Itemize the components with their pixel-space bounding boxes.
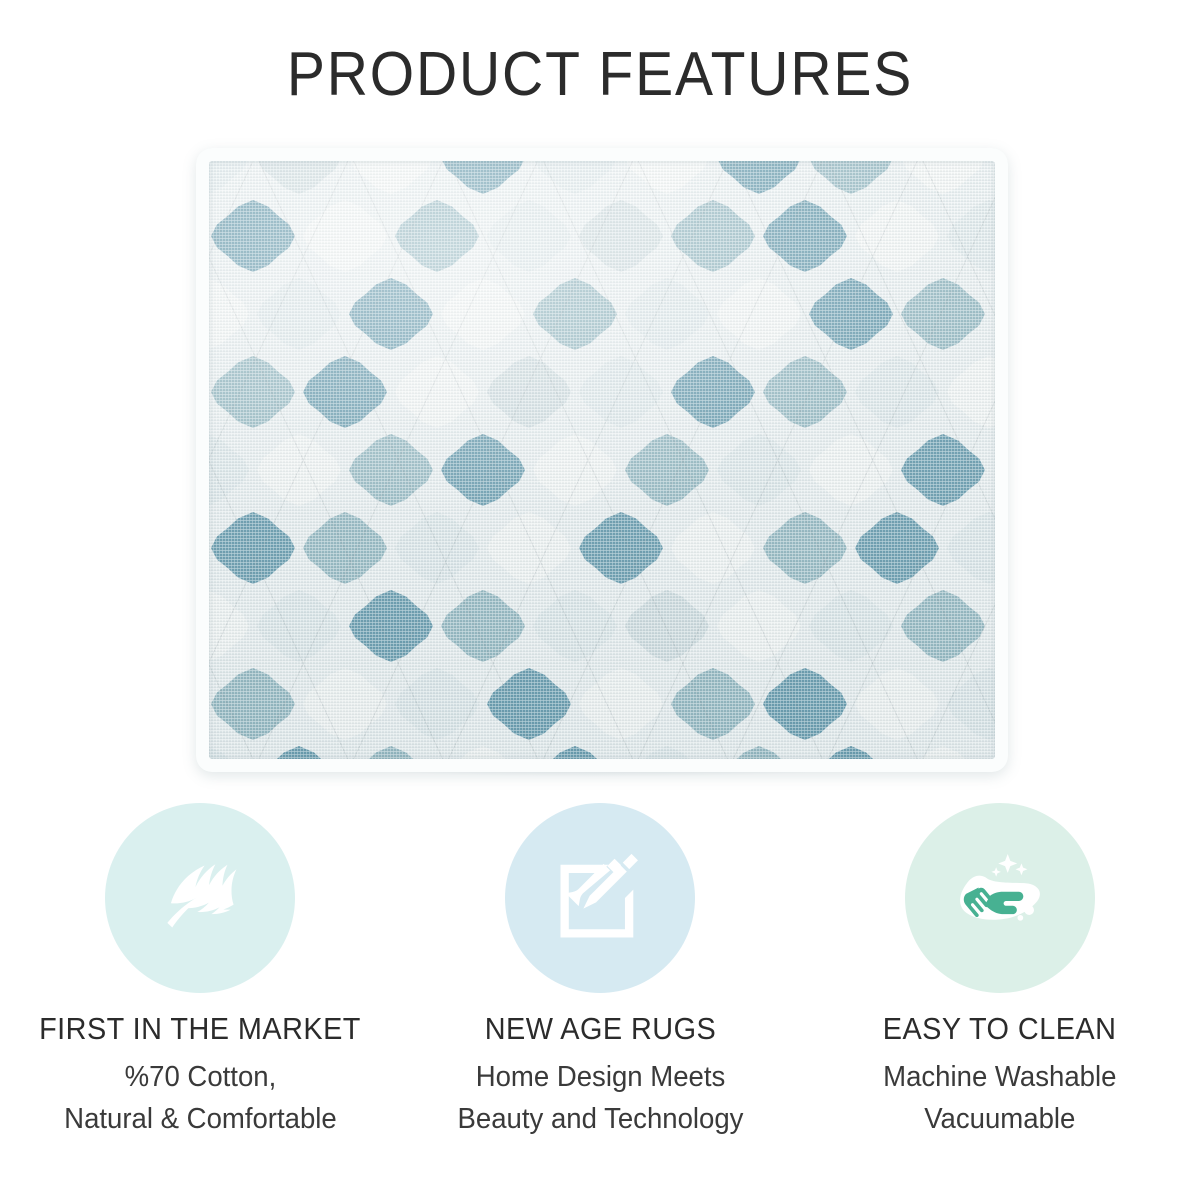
feature-description-1: %70 Cotton, Natural & Comfortable <box>64 1057 337 1139</box>
rug-tile <box>943 509 997 587</box>
rug-tile-shape <box>395 356 479 428</box>
rug-tile <box>207 353 299 431</box>
rug-tile <box>437 275 529 353</box>
rug-tile <box>253 159 345 197</box>
rug-tile-shape <box>671 668 755 740</box>
rug-tile <box>483 509 575 587</box>
rug-tile-shape <box>717 278 801 350</box>
rug-tile-shape <box>303 200 387 272</box>
rug-tile <box>437 159 529 197</box>
feature-list: FIRST IN THE MARKET %70 Cotton, Natural … <box>0 812 1200 1140</box>
rug-tile <box>575 197 667 275</box>
rug-tile <box>437 431 529 509</box>
rug-tile <box>299 353 391 431</box>
rug-tile <box>943 353 997 431</box>
rug-tile-shape <box>717 746 801 761</box>
rug-tile <box>391 197 483 275</box>
brush-and-pencil-icon <box>548 846 652 950</box>
rug-tile-shape <box>207 159 249 194</box>
rug-tile <box>713 431 805 509</box>
rug-tile-shape <box>625 590 709 662</box>
rug-tile <box>253 275 345 353</box>
rug-tile <box>897 743 989 761</box>
rug-tile-shape <box>855 356 939 428</box>
feature-description-2-line-2: Beauty and Technology <box>457 1099 743 1140</box>
rug-tile-shape <box>303 356 387 428</box>
rug-tile <box>943 197 997 275</box>
rug-tile <box>483 197 575 275</box>
rug-tile <box>759 509 851 587</box>
rug-tile-shape <box>207 746 249 761</box>
rug-tile-shape <box>763 668 847 740</box>
rug-tile <box>529 743 621 761</box>
rug-tile-shape <box>257 278 341 350</box>
rug-tile <box>759 353 851 431</box>
rug-tile-shape <box>947 512 997 584</box>
rug-tile-shape <box>441 746 525 761</box>
rug-tile-shape <box>763 512 847 584</box>
rug-tile <box>851 197 943 275</box>
rug-tile <box>575 665 667 743</box>
rug-tile <box>345 275 437 353</box>
rug-tile <box>483 665 575 743</box>
rug-tile-shape <box>625 278 709 350</box>
rug-tile-shape <box>533 159 617 194</box>
feature-title-2: NEW AGE RUGS <box>484 1012 715 1045</box>
rug-tile-shape <box>809 746 893 761</box>
rug-tile-shape <box>947 668 997 740</box>
rug-tile <box>805 587 897 665</box>
rug-tile <box>253 743 345 761</box>
rug-tile-shape <box>349 746 433 761</box>
rug-tile-shape <box>207 278 249 350</box>
rug-tile <box>621 159 713 197</box>
rug-tile <box>897 275 989 353</box>
rug-tile-shape <box>257 159 341 194</box>
rug-tile-shape <box>533 434 617 506</box>
page-title: PRODUCT FEATURES <box>48 44 1152 106</box>
rug-tile <box>529 587 621 665</box>
rug-tile-shape <box>211 200 295 272</box>
rug-tile-shape <box>211 356 295 428</box>
rug-tile-shape <box>671 512 755 584</box>
rug-tile <box>713 275 805 353</box>
feature-description-2-line-1: Home Design Meets <box>457 1057 743 1098</box>
rug-tile-shape <box>207 590 249 662</box>
rug-tile-shape <box>207 434 249 506</box>
rug-tile <box>253 431 345 509</box>
rug-tile <box>897 431 989 509</box>
rug-tile-shape <box>855 668 939 740</box>
rug-tile <box>345 159 437 197</box>
rug-tile <box>253 587 345 665</box>
rug-tile-shape <box>211 668 295 740</box>
rug-tile-shape <box>395 200 479 272</box>
rug-tile <box>529 431 621 509</box>
rug-photo <box>196 148 1008 772</box>
rug-tile-shape <box>763 200 847 272</box>
rug-tile <box>345 431 437 509</box>
rug-tile-shape <box>487 668 571 740</box>
rug-tile <box>713 587 805 665</box>
rug-tile <box>851 665 943 743</box>
rug-tile-shape <box>349 590 433 662</box>
rug-tile <box>667 509 759 587</box>
rug-tile-shape <box>395 512 479 584</box>
rug-tile-shape <box>441 159 525 194</box>
rug-tile-shape <box>717 159 801 194</box>
rug-tile <box>299 665 391 743</box>
rug-tile <box>207 509 299 587</box>
rug-tile-shape <box>901 746 985 761</box>
rug-tile-shape <box>901 434 985 506</box>
rug-tile-shape <box>579 356 663 428</box>
rug-drop-shadow <box>210 764 994 782</box>
rug-tile <box>713 743 805 761</box>
rug-tile <box>391 665 483 743</box>
rug-tile-shape <box>349 434 433 506</box>
rug-tile <box>391 509 483 587</box>
rug-tile-shape <box>671 356 755 428</box>
feature-item-easy-to-clean: EASY TO CLEAN Machine Washable Vacuumabl… <box>800 812 1200 1140</box>
feature-title-1: FIRST IN THE MARKET <box>39 1012 361 1045</box>
rug-tile-grid <box>207 159 997 761</box>
rug-tile-shape <box>625 159 709 194</box>
rug-tile-shape <box>717 434 801 506</box>
rug-tile <box>575 353 667 431</box>
feature-title-3: EASY TO CLEAN <box>883 1012 1117 1045</box>
rug-tile <box>621 743 713 761</box>
rug-tile <box>851 353 943 431</box>
rug-tile-shape <box>211 512 295 584</box>
rug-tile <box>483 353 575 431</box>
rug-tile-shape <box>395 668 479 740</box>
rug-tile <box>207 431 253 509</box>
hand-wiping-clean-icon <box>945 843 1055 953</box>
feather-icon <box>148 846 252 950</box>
rug-tile <box>207 159 253 197</box>
rug-tile <box>391 353 483 431</box>
rug-tile-shape <box>303 512 387 584</box>
rug-tile <box>943 665 997 743</box>
feature-description-3: Machine Washable Vacuumable <box>883 1057 1116 1139</box>
rug-tile <box>299 509 391 587</box>
rug-tile-shape <box>763 356 847 428</box>
rug-tile <box>851 509 943 587</box>
rug-tile <box>897 587 989 665</box>
rug-tile-shape <box>901 590 985 662</box>
feature-badge-3 <box>914 812 1086 984</box>
rug-tile <box>529 159 621 197</box>
rug-tile-shape <box>533 278 617 350</box>
rug-tile-shape <box>809 434 893 506</box>
rug-tile <box>667 197 759 275</box>
rug-tile <box>207 275 253 353</box>
rug-tile-shape <box>487 356 571 428</box>
rug-tile-shape <box>625 434 709 506</box>
rug-tile-shape <box>947 356 997 428</box>
feature-description-3-line-1: Machine Washable <box>883 1057 1116 1098</box>
feature-item-new-age-rugs: NEW AGE RUGS Home Design Meets Beauty an… <box>400 812 800 1140</box>
rug-tile-shape <box>809 159 893 194</box>
rug-tile <box>759 665 851 743</box>
rug-tile <box>759 197 851 275</box>
feature-badge-2 <box>514 812 686 984</box>
rug-tile-shape <box>441 434 525 506</box>
rug-tile <box>667 353 759 431</box>
rug-tile <box>575 509 667 587</box>
rug-tile-shape <box>855 200 939 272</box>
rug-tile-shape <box>257 434 341 506</box>
rug-tile-shape <box>441 590 525 662</box>
rug-tile-shape <box>533 746 617 761</box>
rug-tile <box>345 743 437 761</box>
rug-tile <box>805 159 897 197</box>
rug-tile <box>299 197 391 275</box>
rug-tile-shape <box>487 512 571 584</box>
rug-tile <box>621 587 713 665</box>
rug-tile <box>207 743 253 761</box>
rug-tile <box>437 587 529 665</box>
feature-description-1-line-2: Natural & Comfortable <box>64 1099 337 1140</box>
rug-tile-shape <box>349 159 433 194</box>
rug-tile-shape <box>257 590 341 662</box>
rug-tile-shape <box>257 746 341 761</box>
feature-badge-1 <box>114 812 286 984</box>
rug-tile <box>667 665 759 743</box>
rug-tile <box>437 743 529 761</box>
rug-tile <box>207 197 299 275</box>
rug-tile-shape <box>717 590 801 662</box>
feature-item-first-in-the-market: FIRST IN THE MARKET %70 Cotton, Natural … <box>0 812 400 1140</box>
rug-tile-shape <box>947 200 997 272</box>
rug-tile-shape <box>625 746 709 761</box>
rug-tile <box>621 431 713 509</box>
rug-tile-shape <box>671 200 755 272</box>
rug-tile-shape <box>579 512 663 584</box>
rug-tile <box>805 743 897 761</box>
feature-description-3-line-2: Vacuumable <box>883 1099 1116 1140</box>
rug-tile-shape <box>809 278 893 350</box>
rug-tile-shape <box>579 200 663 272</box>
rug-tile-shape <box>349 278 433 350</box>
rug-tile-shape <box>901 278 985 350</box>
rug-tile-shape <box>809 590 893 662</box>
rug-tile <box>897 159 989 197</box>
feature-description-2: Home Design Meets Beauty and Technology <box>457 1057 743 1139</box>
rug-tile <box>621 275 713 353</box>
rug-tile <box>207 587 253 665</box>
rug-tile-shape <box>441 278 525 350</box>
product-image <box>196 148 1008 772</box>
rug-tile-shape <box>303 668 387 740</box>
rug-tile <box>207 665 299 743</box>
rug-tile-shape <box>901 159 985 194</box>
rug-tile <box>713 159 805 197</box>
rug-tile <box>805 275 897 353</box>
rug-tile-shape <box>533 590 617 662</box>
rug-tile <box>529 275 621 353</box>
rug-tile-shape <box>855 512 939 584</box>
rug-pattern-field <box>207 159 997 761</box>
feature-description-1-line-1: %70 Cotton, <box>64 1057 337 1098</box>
rug-tile <box>805 431 897 509</box>
rug-tile-shape <box>487 200 571 272</box>
rug-tile-shape <box>579 668 663 740</box>
rug-tile <box>345 587 437 665</box>
